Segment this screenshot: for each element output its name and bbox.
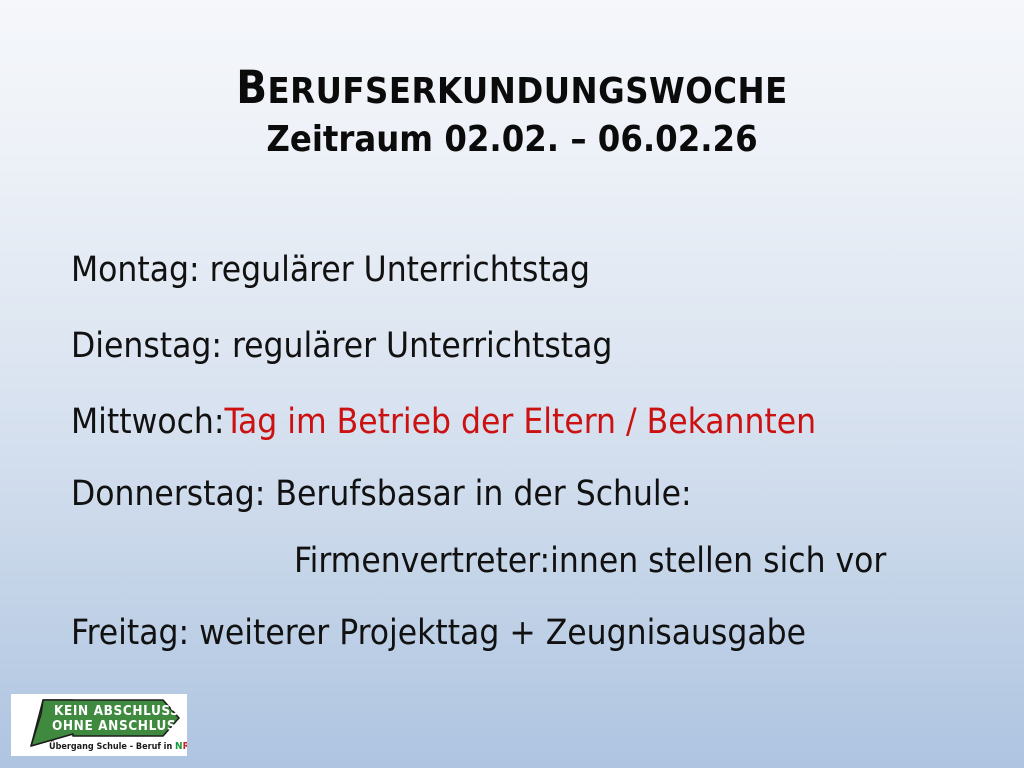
list-item: Montag: regulärer Unterrichtstag — [0, 248, 1024, 292]
page-title: BERUFSERKUNDUNGSWOCHE — [0, 64, 1024, 111]
logo-line-2: OHNE ANSCHLUSS — [52, 718, 185, 734]
title-block: BERUFSERKUNDUNGSWOCHE Zeitraum 02.02. – … — [0, 64, 1024, 159]
schedule-line-text: Mittwoch: — [71, 405, 225, 440]
logo-line-1: KEIN ABSCHLUSS — [54, 703, 180, 719]
list-item: Firmenvertreter:innen stellen sich vor — [0, 539, 1024, 583]
page-subtitle: Zeitraum 02.02. – 06.02.26 — [0, 121, 1024, 159]
schedule-line-text: Firmenvertreter:innen stellen sich vor — [294, 544, 886, 579]
schedule-line-text: Montag: regulärer Unterrichtstag — [71, 253, 590, 288]
kein-abschluss-ohne-anschluss-logo: KEIN ABSCHLUSS OHNE ANSCHLUSS Übergang S… — [11, 694, 187, 756]
logo-tagline: Übergang Schule - Beruf in NRW — [49, 741, 187, 752]
list-item: Mittwoch: Tag im Betrieb der Eltern / Be… — [0, 400, 1024, 444]
schedule-line-text: Dienstag: regulärer Unterrichtstag — [71, 329, 612, 364]
list-item: Dienstag: regulärer Unterrichtstag — [0, 324, 1024, 368]
page-title-initial: B — [236, 61, 267, 114]
logo-tagline-prefix: Übergang Schule - Beruf in — [49, 741, 175, 752]
logo-nrw-n: N — [175, 741, 183, 752]
schedule-line-text: Freitag: weiterer Projekttag + Zeugnisau… — [71, 616, 806, 651]
schedule-list: Montag: regulärer Unterrichtstag Diensta… — [0, 248, 1024, 655]
logo-nrw-r: R — [183, 741, 187, 752]
logo-graphic: KEIN ABSCHLUSS OHNE ANSCHLUSS Übergang S… — [11, 694, 187, 756]
list-item: Donnerstag: Berufsbasar in der Schule: — [0, 472, 1024, 516]
presentation-slide: BERUFSERKUNDUNGSWOCHE Zeitraum 02.02. – … — [0, 0, 1024, 768]
schedule-line-text: Donnerstag: Berufsbasar in der Schule: — [71, 477, 692, 512]
list-item: Freitag: weiterer Projekttag + Zeugnisau… — [0, 611, 1024, 655]
schedule-line-highlight: Tag im Betrieb der Eltern / Bekannten — [225, 405, 817, 440]
page-title-rest: ERUFSERKUNDUNGSWOCHE — [268, 71, 788, 112]
